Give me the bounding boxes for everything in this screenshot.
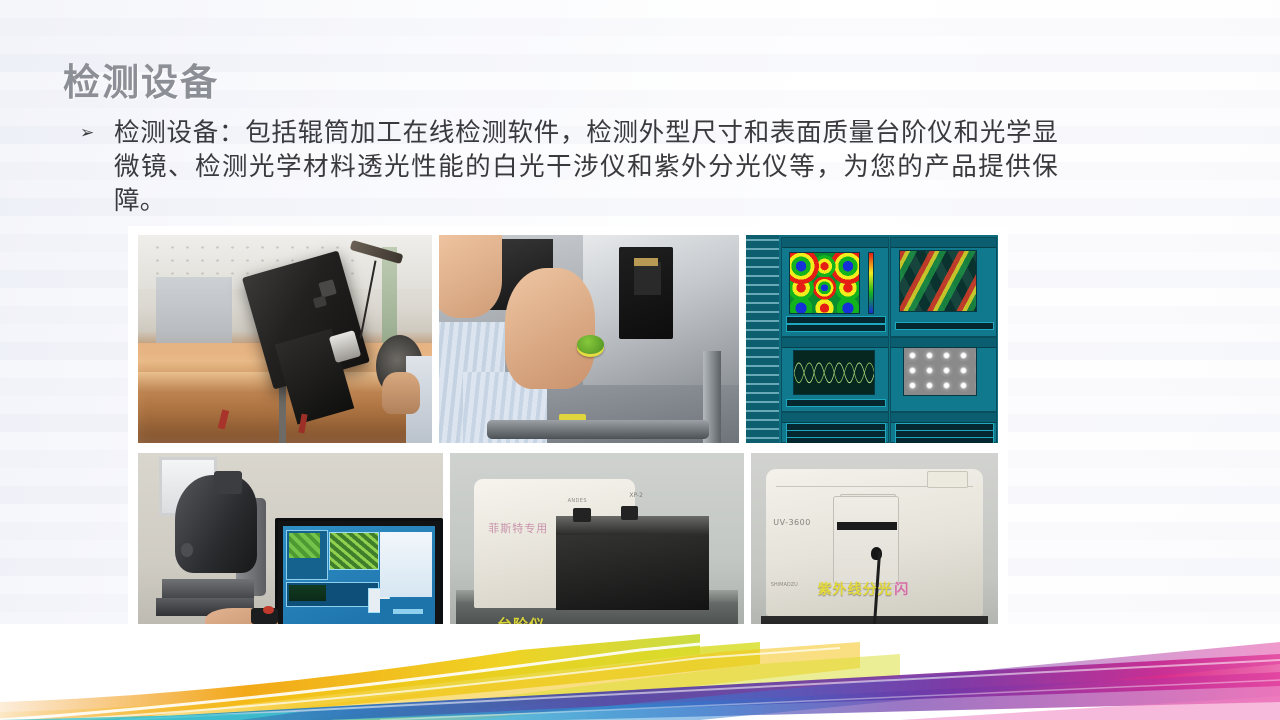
gallery-row-top (138, 235, 998, 443)
photo2-tool-holder (634, 262, 661, 295)
photo3-panel-titlebar (891, 238, 997, 248)
photo-roller-inline-inspection (138, 235, 432, 443)
photo3-readout-row-3 (895, 322, 994, 330)
photo4-screen-report-area (380, 532, 432, 597)
photo4-screen-button (393, 609, 423, 614)
photo2-left-hand (439, 235, 502, 318)
photo2-right-hand (505, 268, 595, 389)
photo4-screen-green-image (289, 533, 319, 558)
photo1-operator-hand (382, 372, 420, 414)
photo3-panel-surface-profile (781, 337, 889, 412)
photo6-rear-lid (927, 471, 969, 487)
photo4-joystick-knob (263, 606, 274, 614)
photo3-sidebar (746, 235, 779, 443)
photo3-readout-row-1 (786, 316, 885, 324)
photo6-model-label: UV-3600 (773, 518, 811, 527)
photo-interferometer-software (746, 235, 998, 443)
photo3-system-row-3 (895, 437, 994, 443)
photo3-panel-titlebar (782, 413, 888, 423)
photo4-monitor-screen (283, 526, 435, 630)
ribbon-svg (0, 624, 1280, 720)
body-text-block: ➢ 检测设备：包括辊筒加工在线检测软件，检测外型尺寸和表面质量台阶仪和光学显微镜… (78, 116, 1058, 218)
photo3-readout-row-2 (786, 324, 885, 332)
photo3-panel-analyze-attributes (781, 412, 889, 443)
photo3-panel-video-scan (890, 337, 998, 412)
photo2-brass-part (634, 258, 658, 266)
photo4-eyepiece (214, 471, 241, 493)
photo6-caption-accent: 闪 (894, 579, 908, 599)
photo5-knob-right (621, 506, 639, 520)
photo5-watermark-text: 菲斯特专用 (488, 520, 548, 536)
photo3-panel-surface-plot (890, 237, 998, 337)
photo2-green-optical-sample (577, 335, 604, 354)
bottom-ribbon-decoration (0, 624, 1280, 720)
photo3-intensity-heatmap (789, 252, 861, 315)
photo3-readout-row-4 (786, 399, 885, 407)
photo1-wall (156, 277, 232, 352)
photo3-3d-surface-plot (899, 250, 977, 313)
photo5-model-label: XP-2 (629, 492, 643, 499)
photo4-screen-live-view (329, 532, 380, 569)
photo4-screen-waveform (289, 585, 325, 601)
photo3-panel-intensity-map (781, 237, 889, 337)
photo6-sample-door (833, 496, 899, 584)
photo3-panel-system-attributes (890, 412, 998, 443)
photo4-focus-dial (181, 543, 193, 557)
photo5-knob-left (573, 508, 591, 522)
page-title: 检测设备 (63, 52, 219, 106)
photo6-caption-label: 紫外线分光 (818, 579, 893, 599)
photo2-horizontal-rod (487, 420, 709, 439)
bullet-arrow-icon: ➢ (78, 116, 114, 150)
photo-optical-sample-handling (439, 235, 739, 443)
photo3-panel-titlebar (782, 238, 888, 248)
body-paragraph: 检测设备：包括辊筒加工在线检测软件，检测外型尺寸和表面质量台阶仪和光学显微镜、检… (114, 116, 1058, 218)
photo3-panel-titlebar (782, 338, 888, 348)
photo3-attribute-row-3 (786, 437, 885, 443)
photo3-video-dot-array (903, 347, 977, 396)
image-gallery: ANDES XP-2 菲斯特专用 台阶仪 18 9:35 AM Ambios U… (128, 226, 1008, 666)
photo3-panel-titlebar (891, 413, 997, 423)
photo3-profile-waveform (793, 350, 875, 396)
photo6-sample-slot (837, 522, 896, 530)
photo5-brand-logo: ANDES (568, 498, 587, 504)
photo6-brand-label: SHIMADZU (771, 582, 798, 588)
photo3-color-scale (868, 252, 874, 315)
